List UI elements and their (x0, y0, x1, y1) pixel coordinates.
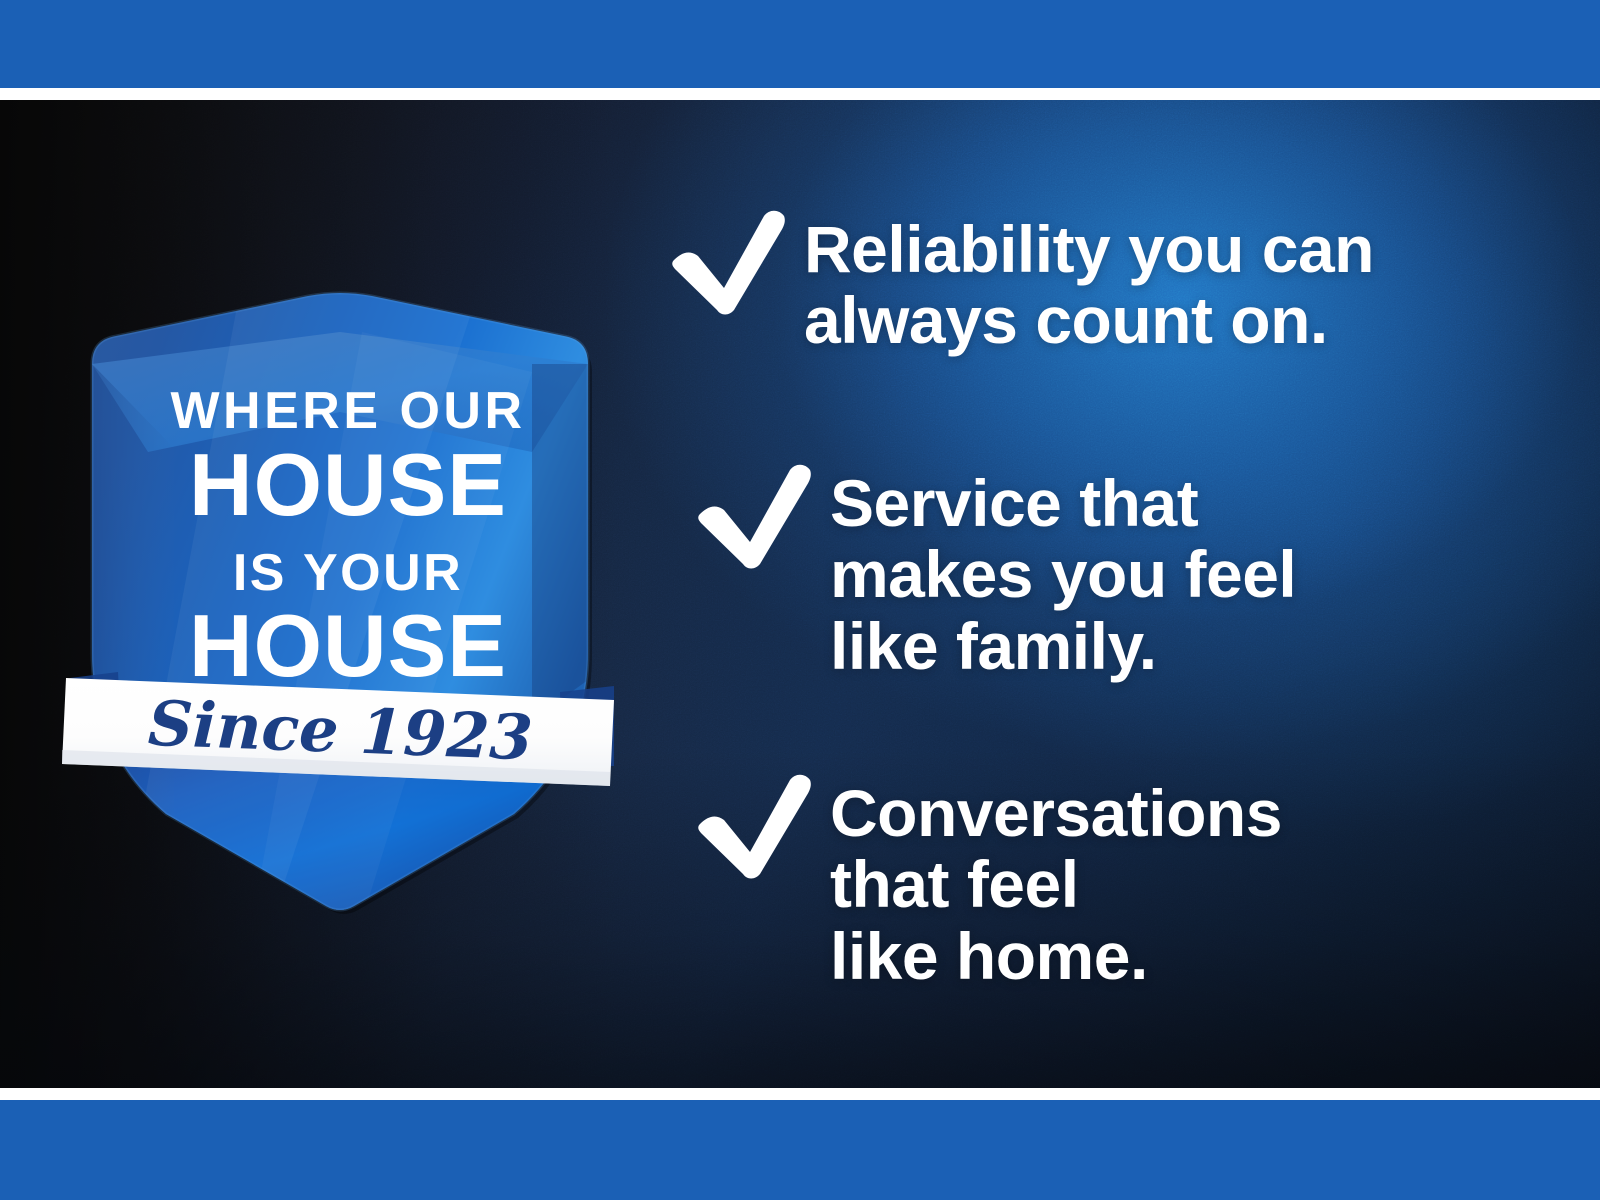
background-canvas: WHERE OUR HOUSE IS YOUR HOUSE Since 1923 (0, 100, 1600, 1088)
badge-line-1: WHERE OUR (170, 382, 525, 440)
bottom-brand-bar (0, 1100, 1600, 1200)
benefits-list: Reliability you can always count on. Ser… (668, 100, 1568, 1088)
list-item-text: Conversations that feel like home. (830, 772, 1282, 992)
shield-badge: WHERE OUR HOUSE IS YOUR HOUSE Since 1923 (62, 280, 618, 920)
bottom-divider (0, 1088, 1600, 1100)
top-divider (0, 88, 1600, 100)
list-item-text: Reliability you can always count on. (804, 208, 1374, 357)
badge-ribbon-text: Since 1923 (147, 687, 534, 775)
list-item: Service that makes you feel like family. (694, 462, 1296, 682)
list-item: Reliability you can always count on. (668, 208, 1374, 357)
list-item-text: Service that makes you feel like family. (830, 462, 1296, 682)
check-icon (694, 462, 816, 570)
badge-line-2: HOUSE (189, 435, 507, 534)
list-item: Conversations that feel like home. (694, 772, 1282, 992)
check-icon (694, 772, 816, 880)
promo-graphic: WHERE OUR HOUSE IS YOUR HOUSE Since 1923 (0, 0, 1600, 1200)
top-brand-bar (0, 0, 1600, 88)
badge-line-3: IS YOUR (233, 544, 463, 602)
badge-line-4: HOUSE (189, 596, 507, 695)
check-icon (668, 208, 790, 316)
